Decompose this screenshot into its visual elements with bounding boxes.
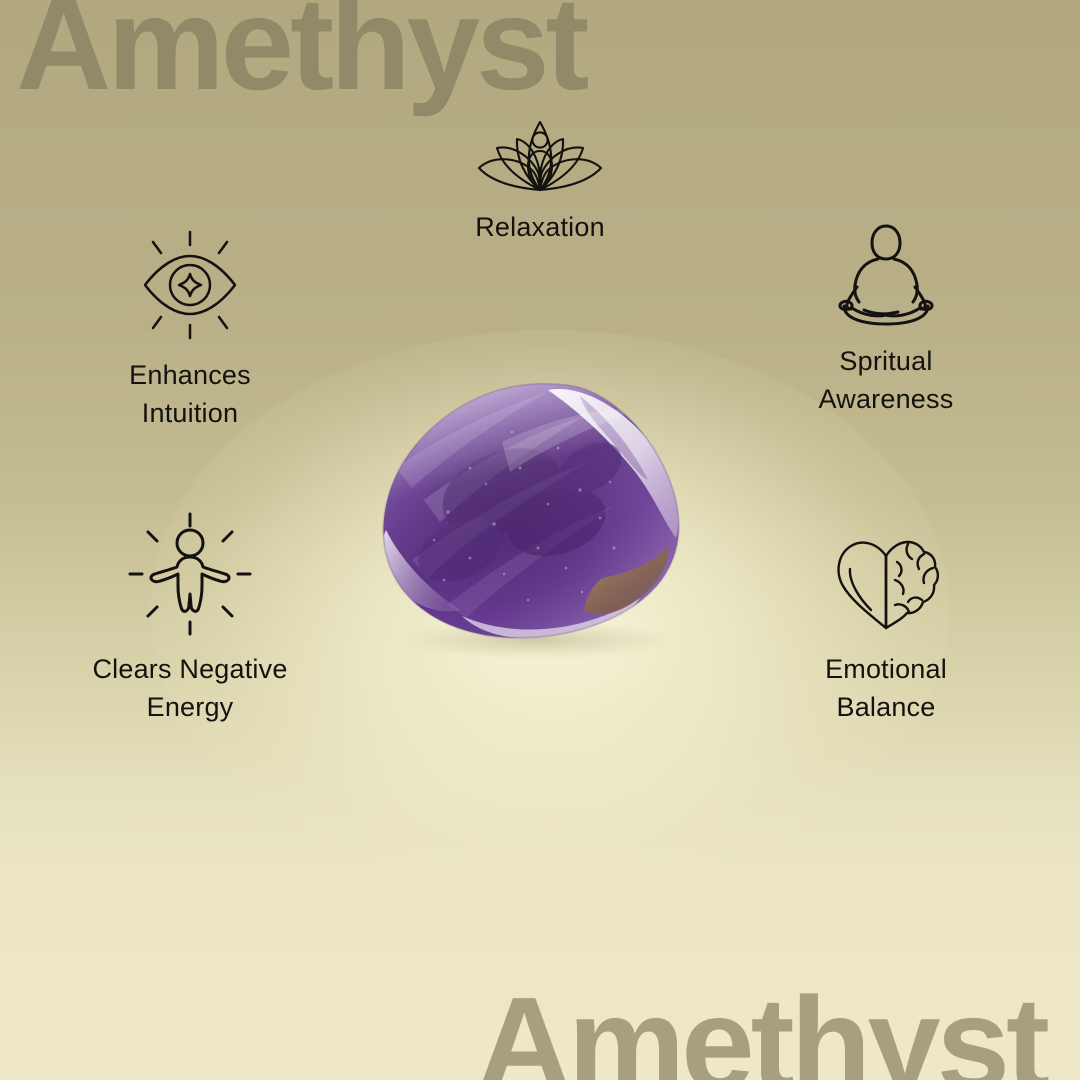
third-eye-icon xyxy=(131,228,249,342)
benefit-label: Emotional Balance xyxy=(825,650,947,727)
stone-body xyxy=(352,372,712,662)
meditating-figure-icon xyxy=(830,222,942,328)
benefit-label: Spritual Awareness xyxy=(819,342,954,419)
benefit-relaxation: Relaxation xyxy=(410,112,670,246)
benefit-clears-negative-energy: Clears Negative Energy xyxy=(60,512,320,727)
page-title-bottom: Amethyst xyxy=(477,978,1046,1080)
page-title-top: Amethyst xyxy=(16,0,585,110)
benefit-emotional-balance: Emotional Balance xyxy=(756,532,1016,727)
poster-canvas: Amethyst Relaxation xyxy=(0,0,1080,1080)
lotus-flower-icon xyxy=(470,112,610,194)
benefit-spritual-awareness: Spritual Awareness xyxy=(756,222,1016,419)
benefit-label: Relaxation xyxy=(475,208,605,246)
amethyst-stone-image xyxy=(352,372,712,662)
benefit-label: Clears Negative Energy xyxy=(92,650,287,727)
radiating-person-icon xyxy=(128,512,252,636)
benefit-label: Enhances Intuition xyxy=(129,356,251,433)
heart-brain-icon xyxy=(829,532,943,636)
benefit-enhances-intuition: Enhances Intuition xyxy=(60,228,320,433)
